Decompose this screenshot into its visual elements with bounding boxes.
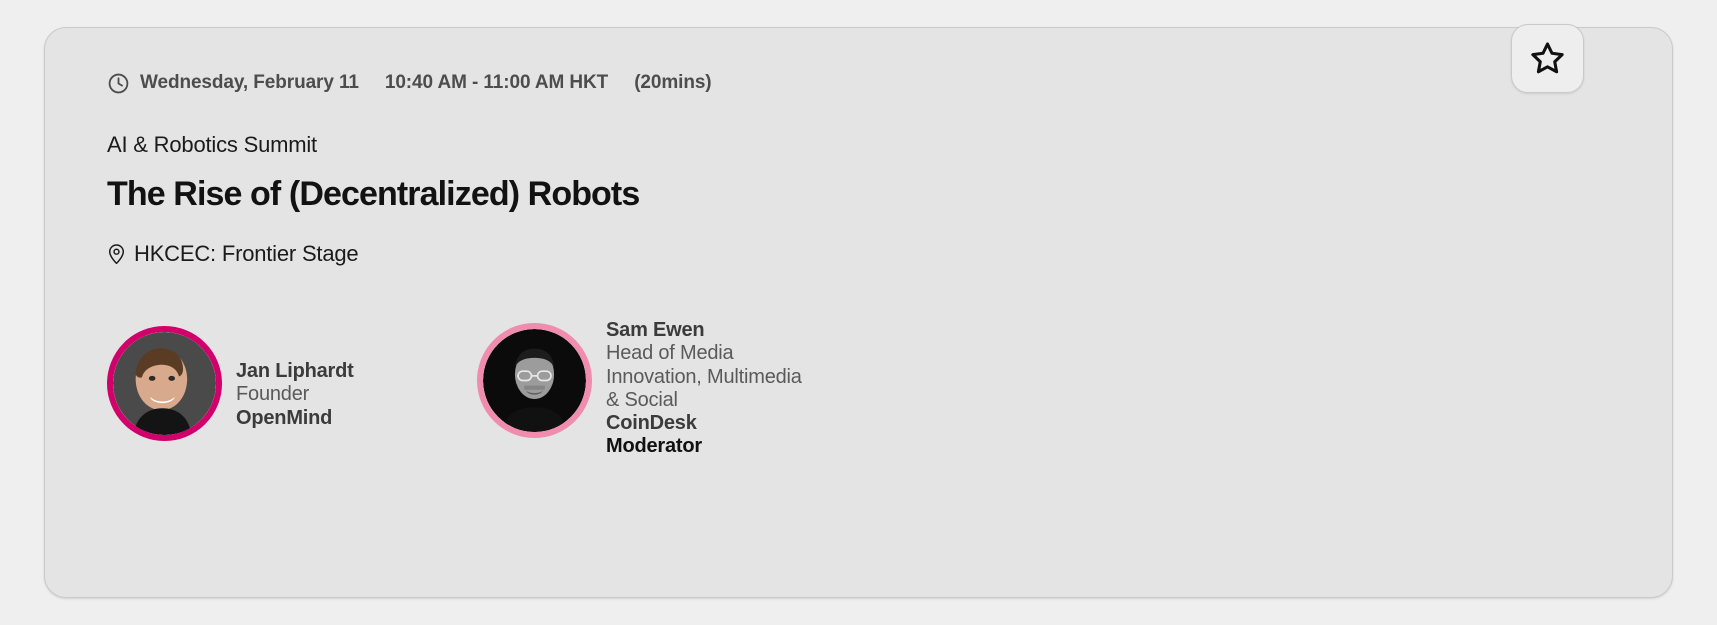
speaker-card[interactable]: Jan Liphardt Founder OpenMind bbox=[107, 301, 477, 441]
avatar-jan-liphardt bbox=[107, 326, 222, 441]
clock-icon bbox=[107, 72, 130, 95]
speaker-role-line: Head of Media bbox=[606, 342, 802, 365]
session-time: 10:40 AM - 11:00 AM HKT bbox=[385, 72, 608, 94]
session-track: AI & Robotics Summit bbox=[107, 133, 1632, 157]
speaker-card[interactable]: Sam Ewen Head of Media Innovation, Multi… bbox=[477, 301, 802, 458]
session-meta-row: Wednesday, February 11 10:40 AM - 11:00 … bbox=[107, 70, 1632, 96]
speaker-name: Jan Liphardt bbox=[236, 360, 354, 383]
session-date: Wednesday, February 11 bbox=[140, 72, 359, 94]
speaker-list: Jan Liphardt Founder OpenMind bbox=[107, 301, 1632, 458]
speaker-role-line: Innovation, Multimedia bbox=[606, 366, 802, 389]
speaker-role: Founder bbox=[236, 383, 354, 406]
session-venue-text: HKCEC: Frontier Stage bbox=[134, 241, 358, 267]
avatar-photo bbox=[113, 332, 216, 435]
speaker-org: CoinDesk bbox=[606, 412, 802, 435]
speaker-details: Jan Liphardt Founder OpenMind bbox=[236, 360, 354, 430]
speaker-org: OpenMind bbox=[236, 407, 354, 430]
avatar-photo bbox=[483, 329, 586, 432]
session-title: The Rise of (Decentralized) Robots bbox=[107, 175, 1632, 213]
speaker-tag: Moderator bbox=[606, 435, 802, 458]
session-card[interactable]: Wednesday, February 11 10:40 AM - 11:00 … bbox=[44, 27, 1673, 598]
avatar-image bbox=[113, 332, 216, 435]
session-card-content: Wednesday, February 11 10:40 AM - 11:00 … bbox=[107, 70, 1632, 577]
session-venue: HKCEC: Frontier Stage bbox=[107, 241, 1632, 267]
speaker-role-line: & Social bbox=[606, 389, 802, 412]
speaker-name: Sam Ewen bbox=[606, 319, 802, 342]
session-duration: (20mins) bbox=[634, 72, 711, 94]
star-icon bbox=[1529, 40, 1566, 77]
avatar-image bbox=[483, 329, 586, 432]
map-pin-icon bbox=[107, 243, 126, 265]
favorite-button[interactable] bbox=[1511, 24, 1584, 93]
page-background: Wednesday, February 11 10:40 AM - 11:00 … bbox=[0, 0, 1717, 625]
speaker-details: Sam Ewen Head of Media Innovation, Multi… bbox=[606, 319, 802, 458]
avatar-sam-ewen bbox=[477, 323, 592, 438]
